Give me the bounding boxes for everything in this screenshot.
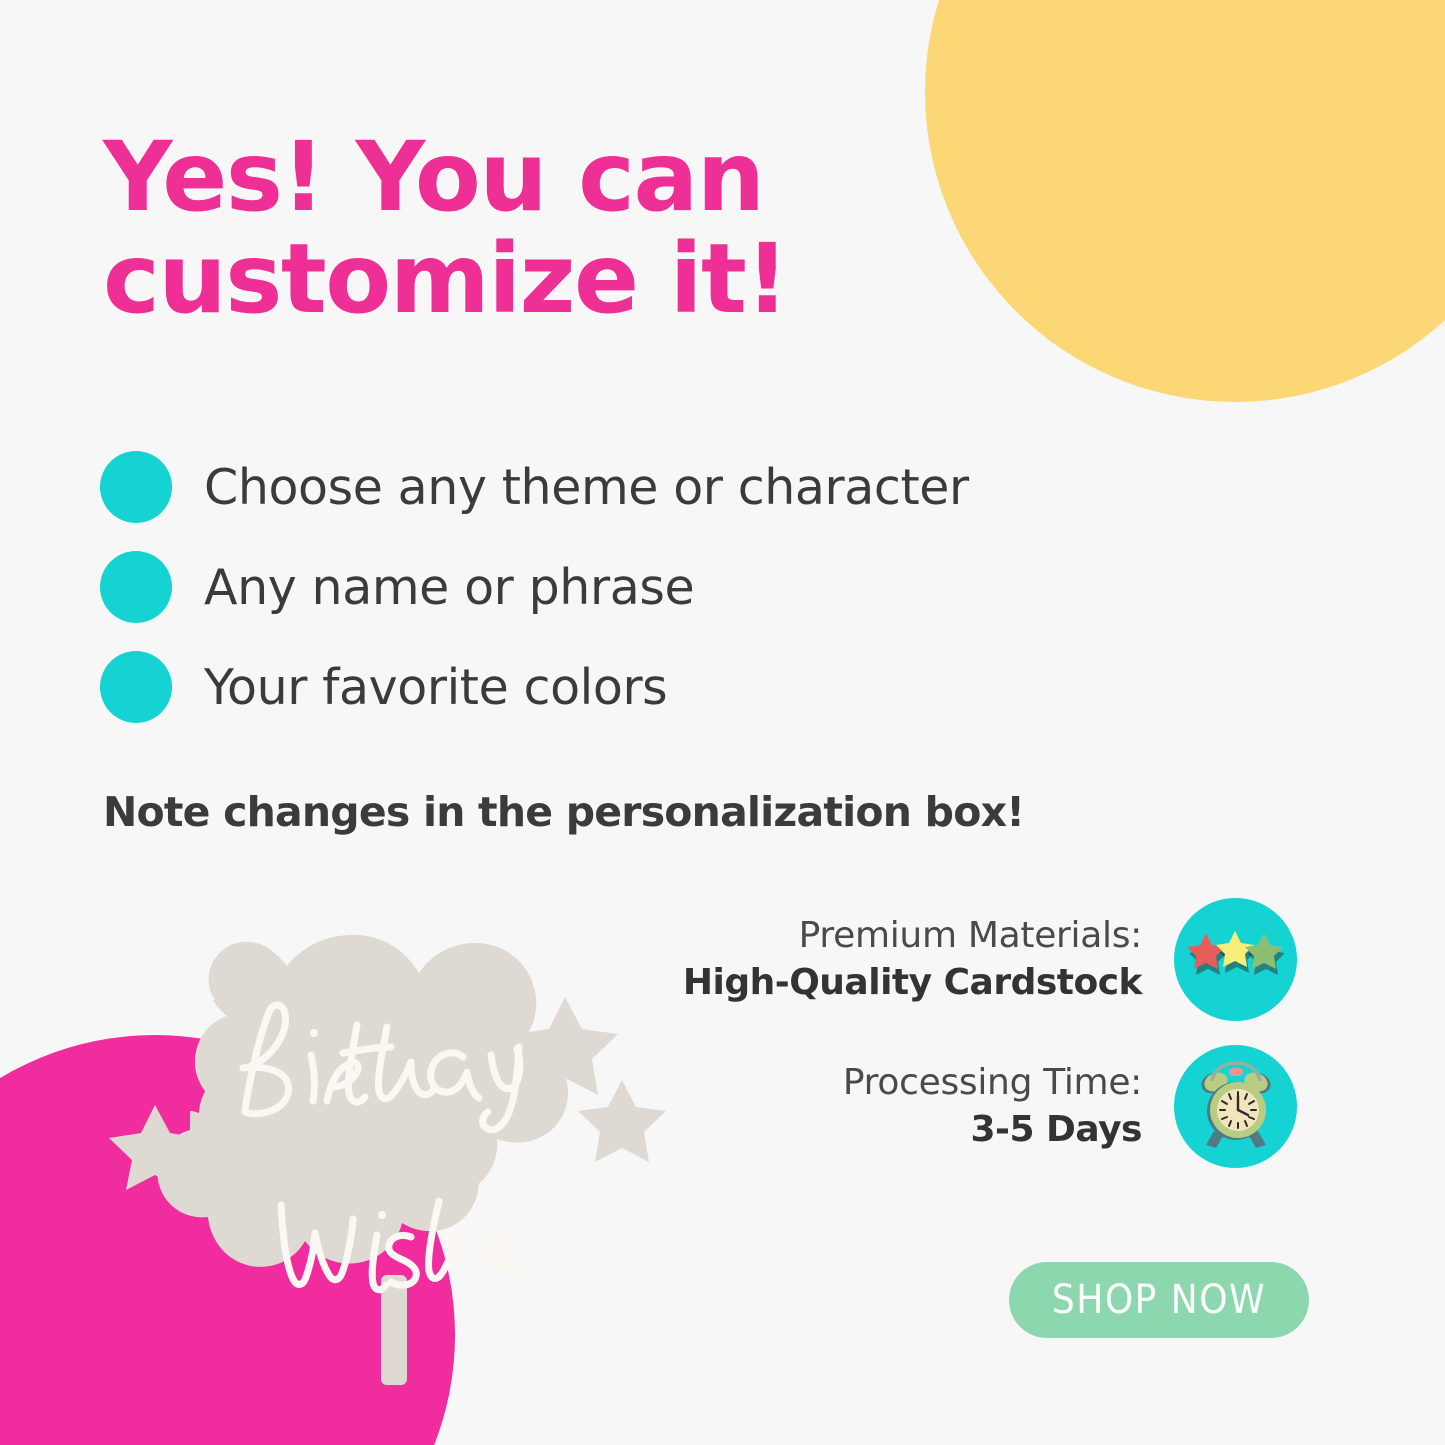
bullet-label: Any name or phrase xyxy=(204,559,694,616)
feature-label: Premium Materials: xyxy=(683,913,1142,959)
headline: Yes! You can customize it! xyxy=(103,127,923,331)
list-item: Any name or phrase xyxy=(100,537,1100,637)
feature-processing-time: Processing Time: 3-5 Days xyxy=(697,1045,1297,1168)
feature-value: High-Quality Cardstock xyxy=(683,960,1142,1006)
list-item: Choose any theme or character xyxy=(100,437,1100,537)
feature-premium-materials: Premium Materials: High-Quality Cardstoc… xyxy=(697,898,1297,1021)
yellow-circle-decoration xyxy=(925,0,1445,402)
bullet-label: Your favorite colors xyxy=(204,659,667,716)
feature-text: Premium Materials: High-Quality Cardstoc… xyxy=(683,913,1142,1005)
shop-now-button[interactable]: SHOP NOW xyxy=(1009,1262,1309,1338)
personalization-note: Note changes in the personalization box! xyxy=(103,788,1024,836)
headline-line-2: customize it! xyxy=(103,229,923,331)
bullet-dot-icon xyxy=(100,451,172,523)
feature-text: Processing Time: 3-5 Days xyxy=(843,1060,1142,1152)
cake-topper-product-image xyxy=(95,905,715,1385)
bullet-label: Choose any theme or character xyxy=(204,459,969,516)
feature-bullet-list: Choose any theme or character Any name o… xyxy=(100,437,1100,737)
feature-value: 3-5 Days xyxy=(843,1107,1142,1153)
topper-body xyxy=(109,935,666,1385)
feature-label: Processing Time: xyxy=(843,1060,1142,1106)
alarm-clock-icon xyxy=(1190,1061,1282,1153)
bullet-dot-icon xyxy=(100,551,172,623)
headline-line-1: Yes! You can xyxy=(103,121,764,233)
bullet-dot-icon xyxy=(100,651,172,723)
three-stars-icon xyxy=(1188,912,1284,1008)
feature-badges: Premium Materials: High-Quality Cardstoc… xyxy=(697,898,1297,1192)
list-item: Your favorite colors xyxy=(100,637,1100,737)
feature-icon-circle xyxy=(1174,898,1297,1021)
promo-graphic: Yes! You can customize it! Choose any th… xyxy=(0,0,1445,1445)
feature-icon-circle xyxy=(1174,1045,1297,1168)
